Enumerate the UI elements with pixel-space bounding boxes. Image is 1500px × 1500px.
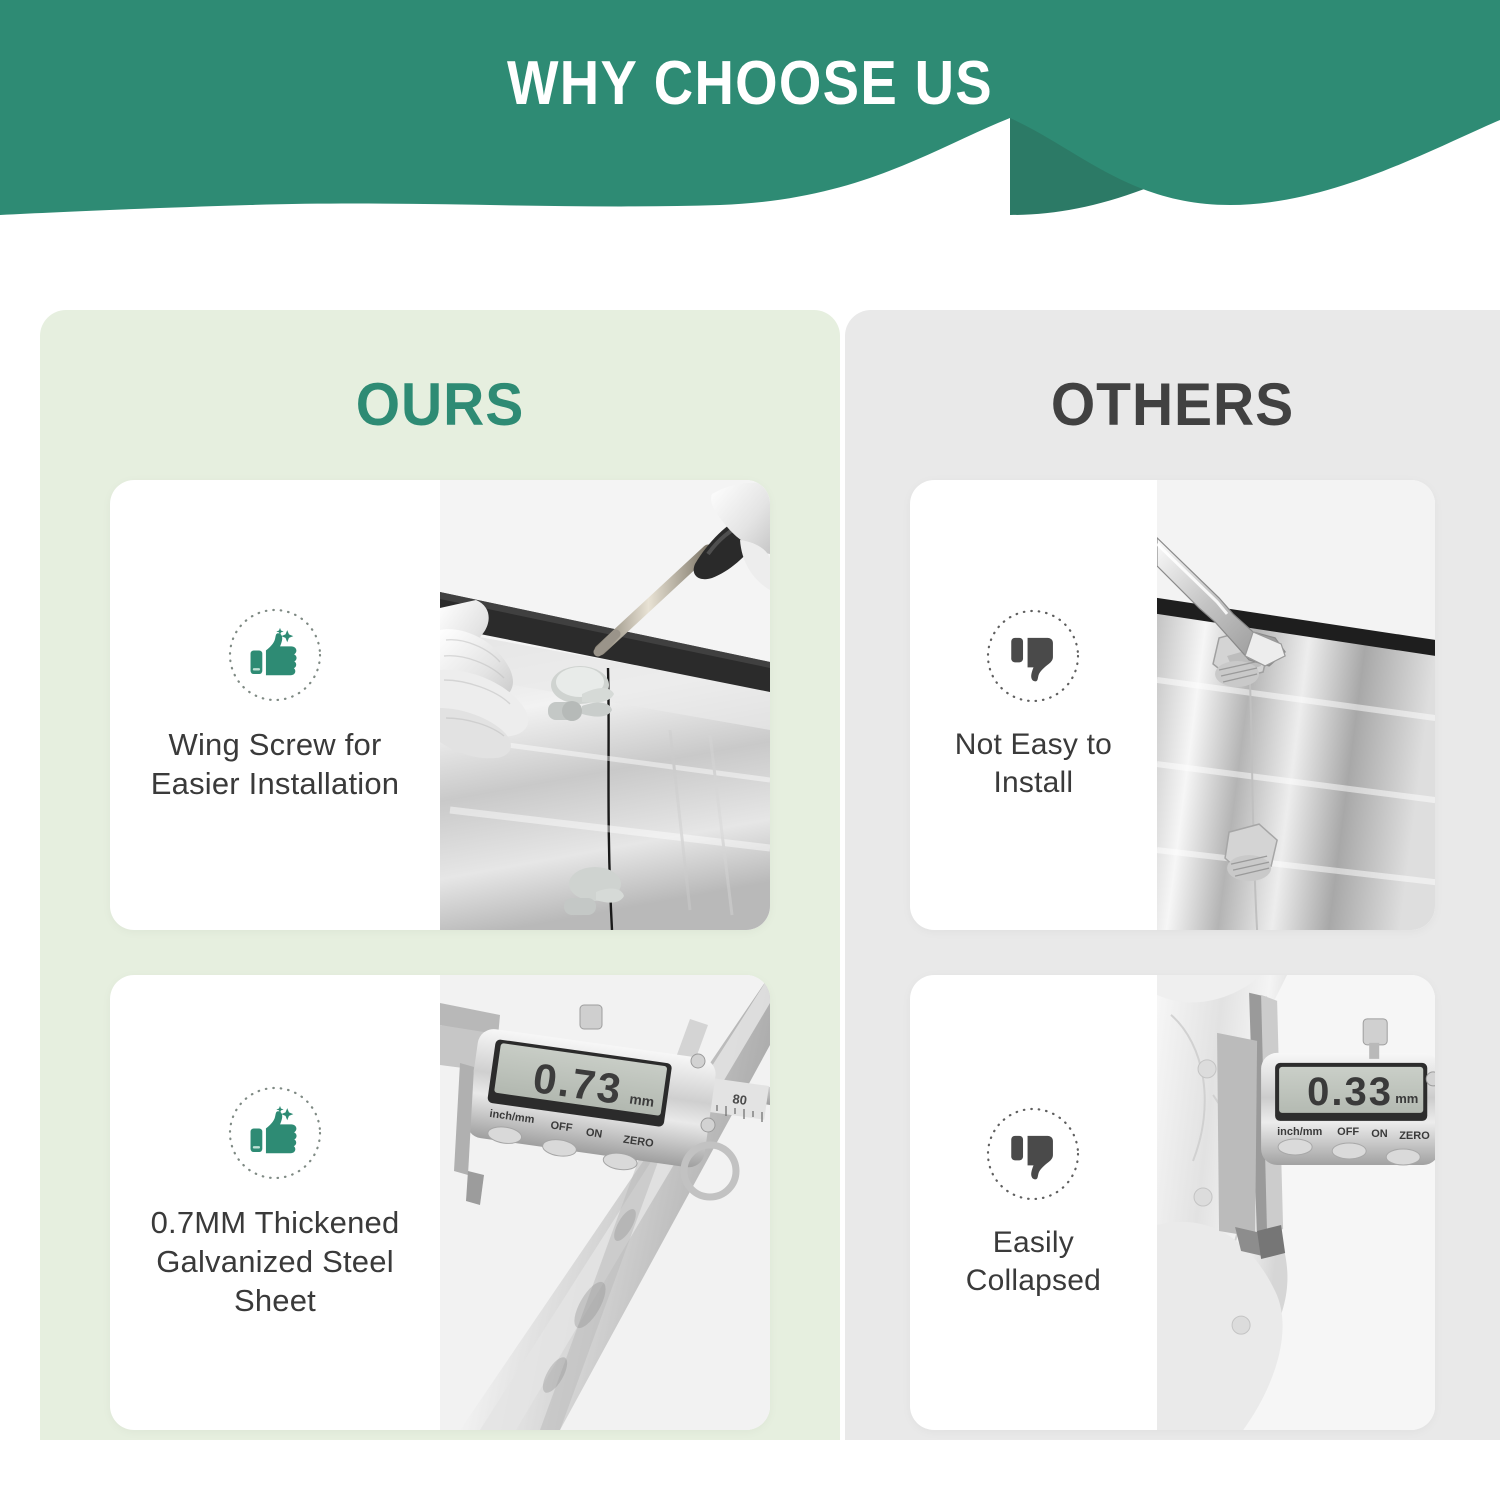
thumbs-up-sparkle-icon (227, 607, 323, 703)
caliper-btn-label-on: ON (1371, 1128, 1388, 1140)
thumbs-down-icon (985, 608, 1081, 704)
card-text-block: Wing Screw for Easier Installation (110, 480, 440, 930)
thumbs-up-glyph (246, 626, 304, 684)
photo-caliper-steel: 70 80 0.73 mm (440, 975, 770, 1430)
caliper-btn-label-inchmm: inch/mm (1277, 1126, 1322, 1138)
card-ours-thickness: 0.7MM Thickened Galvanized Steel Sheet (110, 975, 770, 1430)
panel-others: OTHERS Not Easy to Install (845, 310, 1500, 1440)
panel-heading-ours: OURS (60, 370, 820, 439)
card-others-collapse: Easily Collapsed (910, 975, 1435, 1430)
card-label: 0.7MM Thickened Galvanized Steel Sheet (118, 1203, 432, 1320)
panel-ours: OURS (40, 310, 840, 1440)
thumbs-down-icon (985, 1106, 1081, 1202)
caliper-btn-label-on: ON (585, 1126, 603, 1140)
card-others-install: Not Easy to Install (910, 480, 1435, 930)
thumbs-down-glyph (1004, 1125, 1062, 1183)
comparison-section: OURS (0, 310, 1500, 1440)
caliper-reading-value: 0.33 (1307, 1070, 1393, 1114)
caliper-btn-label-off: OFF (1337, 1126, 1359, 1138)
photo-wrench-bolt (1157, 480, 1435, 930)
caliper-reading-unit: mm (1395, 1091, 1418, 1106)
svg-text:80: 80 (732, 1091, 748, 1108)
thumbs-down-glyph (1004, 627, 1062, 685)
card-label: Not Easy to Install (918, 726, 1149, 802)
photo-wing-screw-install (440, 480, 770, 930)
card-photo-caliper-ours: 70 80 0.73 mm (440, 975, 770, 1430)
card-label: Easily Collapsed (918, 1224, 1149, 1300)
header-banner: WHY CHOOSE US (0, 0, 1500, 215)
caliper-btn-label-zero: ZERO (1399, 1130, 1430, 1142)
thumbs-up-sparkle-icon (227, 1085, 323, 1181)
card-text-block: Not Easy to Install (910, 480, 1157, 930)
card-photo-wrench (1157, 480, 1435, 930)
card-photo-wing-screw (440, 480, 770, 930)
photo-caliper-collapsed: 0.33 mm inch/mm OFF ON ZERO (1157, 975, 1435, 1430)
panel-heading-others: OTHERS (861, 370, 1483, 439)
page-title: WHY CHOOSE US (90, 48, 1410, 119)
hex-bolt-lower (1225, 824, 1277, 881)
card-ours-wing-screw: Wing Screw for Easier Installation (110, 480, 770, 930)
card-label: Wing Screw for Easier Installation (118, 725, 432, 803)
infographic-page: WHY CHOOSE US OURS (0, 0, 1500, 1500)
thumbs-up-glyph (246, 1104, 304, 1162)
card-text-block: Easily Collapsed (910, 975, 1157, 1430)
card-photo-caliper-others: 0.33 mm inch/mm OFF ON ZERO (1157, 975, 1435, 1430)
card-text-block: 0.7MM Thickened Galvanized Steel Sheet (110, 975, 440, 1430)
